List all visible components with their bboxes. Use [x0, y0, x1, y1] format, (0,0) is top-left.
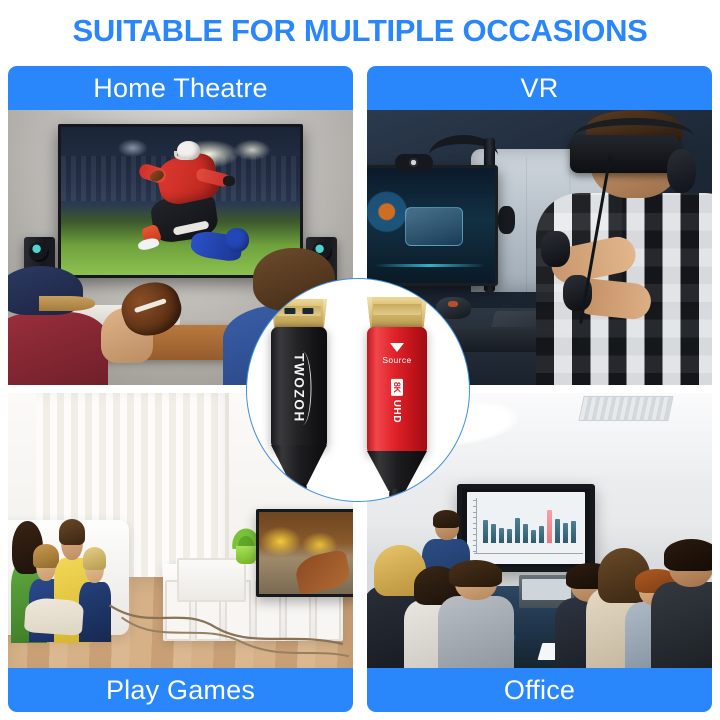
gaming-monitor: [367, 165, 498, 286]
vr-headset: [570, 135, 678, 174]
webcam: [395, 154, 433, 171]
badge-uhd: UHD: [392, 400, 403, 423]
strain-relief-black: [271, 445, 327, 485]
hdmi-plug-icon: [367, 297, 427, 329]
hdmi-cable: TWOZOH Source 8K: [247, 279, 470, 502]
headset-earcup: [667, 149, 696, 193]
cable-wire-black: [292, 483, 307, 502]
brand-logo: TWOZOH: [292, 353, 307, 423]
promo-image: SUITABLE FOR MULTIPLE OCCASIONS Home The…: [0, 0, 720, 720]
cable-wire-red: [389, 489, 405, 502]
microphone: [498, 206, 515, 234]
panel-label-vr: VR: [367, 66, 712, 110]
vr-user: [540, 110, 713, 385]
meeting-attendees: [367, 525, 712, 668]
person-attendee-7: [657, 545, 712, 668]
controller-cables: [8, 597, 353, 669]
tv-game-scene: [259, 512, 353, 594]
hdmi-plug-icon: [271, 299, 327, 329]
panel-label-play-games: Play Games: [8, 668, 353, 712]
vr-controller-left: [541, 231, 570, 267]
source-label: Source: [367, 355, 427, 365]
shelf-cabinet: [177, 558, 246, 602]
living-room-tv: [256, 509, 353, 597]
panel-label-office: Office: [367, 668, 712, 712]
person-attendee-3: [443, 565, 509, 668]
game-object: [405, 207, 463, 246]
product-highlight-circle: TWOZOH Source 8K: [246, 278, 470, 502]
strain-relief-red: [367, 451, 427, 491]
source-marking: Source: [367, 343, 427, 365]
panel-label-home-theatre: Home Theatre: [8, 66, 353, 110]
down-triangle-icon: [390, 343, 404, 352]
resolution-badge: 8K UHD: [391, 379, 403, 423]
viewer-with-cap: [8, 264, 108, 385]
page-title: SUITABLE FOR MULTIPLE OCCASIONS: [0, 12, 720, 50]
badge-8k: 8K: [391, 379, 403, 396]
ceiling-vent: [578, 396, 673, 421]
